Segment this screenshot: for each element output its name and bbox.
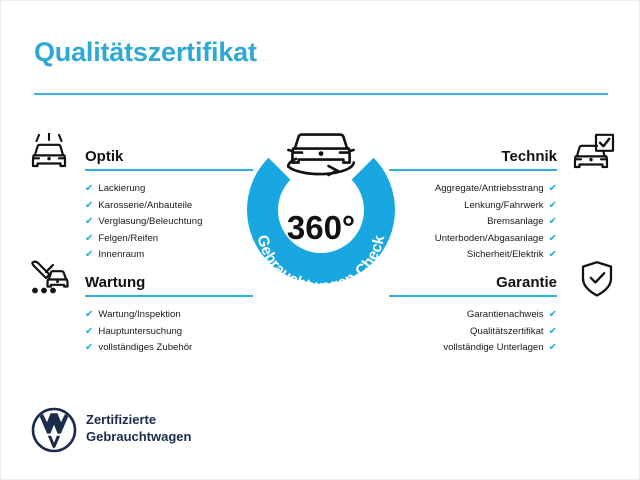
section-optik: Optik ✔Lackierung✔Karosserie/Anbauteile✔… [85,141,253,264]
section-optik-header: Optik [85,141,253,167]
section-garantie: Garantie Garantienachweis✔Qualitätszerti… [389,267,557,357]
checklist-item-label: Lackierung [98,181,145,198]
checklist-item-label: Hauptuntersuchung [98,324,182,341]
section-optik-divider [85,169,253,171]
shield-check-icon [575,259,619,299]
check-icon: ✔ [549,184,557,194]
check-icon: ✔ [85,250,93,260]
section-optik-list: ✔Lackierung✔Karosserie/Anbauteile✔Vergla… [85,181,253,264]
certificate-page: Qualitätszertifikat [0,0,640,480]
checklist-item-label: Sicherheit/Elektrik [467,247,544,264]
checklist-item-label: Garantienachweis [467,307,544,324]
checklist-item: ✔Lackierung [85,181,253,198]
checklist-item-label: Karosserie/Anbauteile [98,198,192,215]
brand-claim: Zertifizierte Gebrauchtwagen [86,411,191,445]
brand-claim-line2: Gebrauchtwagen [86,428,191,445]
checklist-item-label: Aggregate/Antriebsstrang [435,181,544,198]
checklist-item-label: Lenkung/Fahrwerk [464,198,543,215]
checklist-item: ✔Verglasung/Beleuchtung [85,214,253,231]
checklist-item-label: Felgen/Reifen [98,231,158,248]
checklist-item: ✔Felgen/Reifen [85,231,253,248]
checklist-item: Sicherheit/Elektrik✔ [389,247,557,264]
section-garantie-title: Garantie [496,274,557,291]
section-wartung-list: ✔Wartung/Inspektion✔Hauptuntersuchung✔vo… [85,307,253,357]
check-icon: ✔ [85,217,93,227]
check-icon: ✔ [549,217,557,227]
badge-center-label: 360° [287,209,355,246]
checklist-item-label: vollständiges Zubehör [98,340,192,357]
sparkle-car-icon [27,133,71,173]
checklist-item: Unterboden/Abgasanlage✔ [389,231,557,248]
section-technik-divider [389,169,557,171]
checklist-item: ✔Wartung/Inspektion [85,307,253,324]
checklist-item: ✔Hauptuntersuchung [85,324,253,341]
checklist-item-label: Innenraum [98,247,144,264]
checklist-item-label: vollständige Unterlagen [443,340,543,357]
section-garantie-list: Garantienachweis✔Qualitätszertifikat✔vol… [389,307,557,357]
checklist-item-label: Verglasung/Beleuchtung [98,214,202,231]
section-wartung-header: Wartung [85,267,253,293]
checklist-item: ✔Innenraum [85,247,253,264]
check-icon: ✔ [85,184,93,194]
checklist-item: ✔Karosserie/Anbauteile [85,198,253,215]
360-gebrauchtwagen-check-badge: Gebrauchtwagen-Check 360° [233,119,409,309]
page-title: Qualitätszertifikat [34,37,257,68]
brand-claim-line1: Zertifizierte [86,411,191,428]
section-wartung-title: Wartung [85,274,145,291]
wrench-car-icon [27,257,71,297]
section-technik-list: Aggregate/Antriebsstrang✔Lenkung/Fahrwer… [389,181,557,264]
section-wartung-divider [85,295,253,297]
section-garantie-header: Garantie [389,267,557,293]
section-wartung: Wartung ✔Wartung/Inspektion✔Hauptuntersu… [85,267,253,357]
checklist-item-label: Wartung/Inspektion [98,307,180,324]
section-optik-title: Optik [85,148,123,165]
section-garantie-divider [389,295,557,297]
checklist-item-label: Bremsanlage [487,214,544,231]
checklist-item: vollständige Unterlagen✔ [389,340,557,357]
volkswagen-logo [31,407,77,453]
checklist-item-label: Unterboden/Abgasanlage [435,231,544,248]
checklist-item: Bremsanlage✔ [389,214,557,231]
checklist-item: Lenkung/Fahrwerk✔ [389,198,557,215]
check-icon: ✔ [549,250,557,260]
checklist-item: ✔vollständiges Zubehör [85,340,253,357]
title-divider [34,93,608,95]
checklist-item: Garantienachweis✔ [389,307,557,324]
section-technik: Technik Aggregate/Antriebsstrang✔Lenkung… [389,141,557,264]
check-icon: ✔ [85,234,93,244]
check-icon: ✔ [549,327,557,337]
section-technik-header: Technik [389,141,557,167]
check-icon: ✔ [85,310,93,320]
checklist-item: Qualitätszertifikat✔ [389,324,557,341]
check-icon: ✔ [549,201,557,211]
checklist-item: Aggregate/Antriebsstrang✔ [389,181,557,198]
car-rotate-icon [288,135,354,175]
check-icon: ✔ [85,327,93,337]
check-icon: ✔ [85,343,93,353]
checklist-item-label: Qualitätszertifikat [470,324,544,341]
check-icon: ✔ [549,343,557,353]
check-icon: ✔ [549,310,557,320]
section-technik-title: Technik [501,148,557,165]
car-checkbox-icon [571,133,615,173]
check-icon: ✔ [85,201,93,211]
check-icon: ✔ [549,234,557,244]
